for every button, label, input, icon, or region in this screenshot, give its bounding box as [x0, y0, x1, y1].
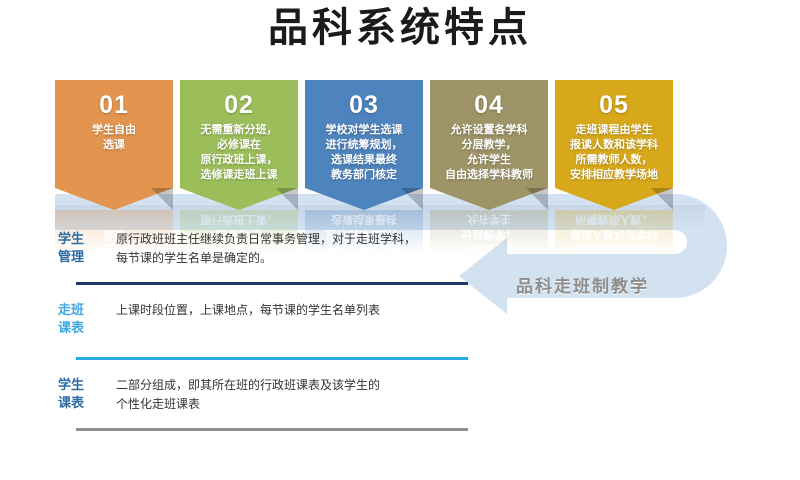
feature-card-04-text: 允许设置各学科 分层教学， 允许学生 自由选择学科教师	[434, 123, 544, 183]
feature-card-02-number: 02	[184, 90, 294, 120]
list-item-description: 二部分组成，即其所在班的行政班课表及该学生的 个性化走班课表	[116, 374, 468, 414]
feature-card-03[interactable]: 03 学校对学生选课 进行统筹规划， 选课结果最终 教务部门核定 学校对学生选课…	[305, 80, 423, 210]
row-spacer	[58, 414, 468, 428]
feature-card-01-text: 学生自由 选课	[59, 123, 169, 153]
detail-list: 学生 管理 原行政班班主任继续负责日常事务管理，对于走班学科， 每节课的学生名单…	[58, 228, 468, 431]
feature-card-02[interactable]: 02 无需重新分班， 必修课在 原行政班上课， 选修课走班上课 无需重新分班， …	[180, 80, 298, 210]
list-item-label: 学生 管理	[58, 228, 116, 266]
feature-card-row: 01 学生自由 选课 学生自由 选课 02 无需重新分班， 必修课在 原行政班上…	[0, 0, 800, 240]
feature-card-04-body: 04 允许设置各学科 分层教学， 允许学生 自由选择学科教师	[430, 80, 548, 188]
feature-card-03-text: 学校对学生选课 进行统筹规划， 选课结果最终 教务部门核定	[309, 123, 419, 183]
row-spacer	[58, 268, 468, 282]
feature-card-05-body: 05 走班课程由学生 报读人数和该学科 所需教师人数， 安排相应教学场地	[555, 80, 673, 188]
feature-card-05-number: 05	[559, 90, 669, 120]
feature-card-03-tail	[305, 188, 423, 210]
feature-card-01-number: 01	[59, 90, 169, 120]
feature-card-04-tail	[430, 188, 548, 210]
feature-card-05[interactable]: 05 走班课程由学生 报读人数和该学科 所需教师人数， 安排相应教学场地 走班课…	[555, 80, 673, 210]
feature-card-03-body: 03 学校对学生选课 进行统筹规划， 选课结果最终 教务部门核定	[305, 80, 423, 188]
list-item-label: 学生 课表	[58, 374, 116, 412]
list-item-description: 上课时段位置，上课地点，每节课的学生名单列表	[116, 299, 468, 320]
feature-card-02-tail	[180, 188, 298, 210]
flow-arrow-label: 品科走班制教学	[516, 272, 649, 297]
row-spacer	[58, 337, 468, 357]
row-spacer	[58, 285, 468, 299]
feature-card-05-tail	[555, 188, 673, 210]
feature-card-05-text: 走班课程由学生 报读人数和该学科 所需教师人数， 安排相应教学场地	[559, 123, 669, 183]
feature-card-01-body: 01 学生自由 选课	[55, 80, 173, 188]
feature-card-02-body: 02 无需重新分班， 必修课在 原行政班上课， 选修课走班上课	[180, 80, 298, 188]
feature-card-04-number: 04	[434, 90, 544, 120]
list-item[interactable]: 走班 课表 上课时段位置，上课地点，每节课的学生名单列表	[58, 299, 468, 337]
list-item-description: 原行政班班主任继续负责日常事务管理，对于走班学科， 每节课的学生名单是确定的。	[116, 228, 468, 268]
row-spacer	[58, 360, 468, 374]
slide-canvas: 品科系统特点 品科走班制教学 01 学生自由 选课 学生自由 选课	[0, 0, 800, 480]
list-item-label: 走班 课表	[58, 299, 116, 337]
list-item[interactable]: 学生 管理 原行政班班主任继续负责日常事务管理，对于走班学科， 每节课的学生名单…	[58, 228, 468, 268]
feature-card-04[interactable]: 04 允许设置各学科 分层教学， 允许学生 自由选择学科教师 允许设置各学科 分…	[430, 80, 548, 210]
feature-card-01-tail	[55, 188, 173, 210]
feature-card-01[interactable]: 01 学生自由 选课 学生自由 选课	[55, 80, 173, 210]
feature-card-03-number: 03	[309, 90, 419, 120]
feature-card-02-text: 无需重新分班， 必修课在 原行政班上课， 选修课走班上课	[184, 123, 294, 183]
list-item[interactable]: 学生 课表 二部分组成，即其所在班的行政班课表及该学生的 个性化走班课表	[58, 374, 468, 414]
list-divider	[76, 428, 468, 431]
